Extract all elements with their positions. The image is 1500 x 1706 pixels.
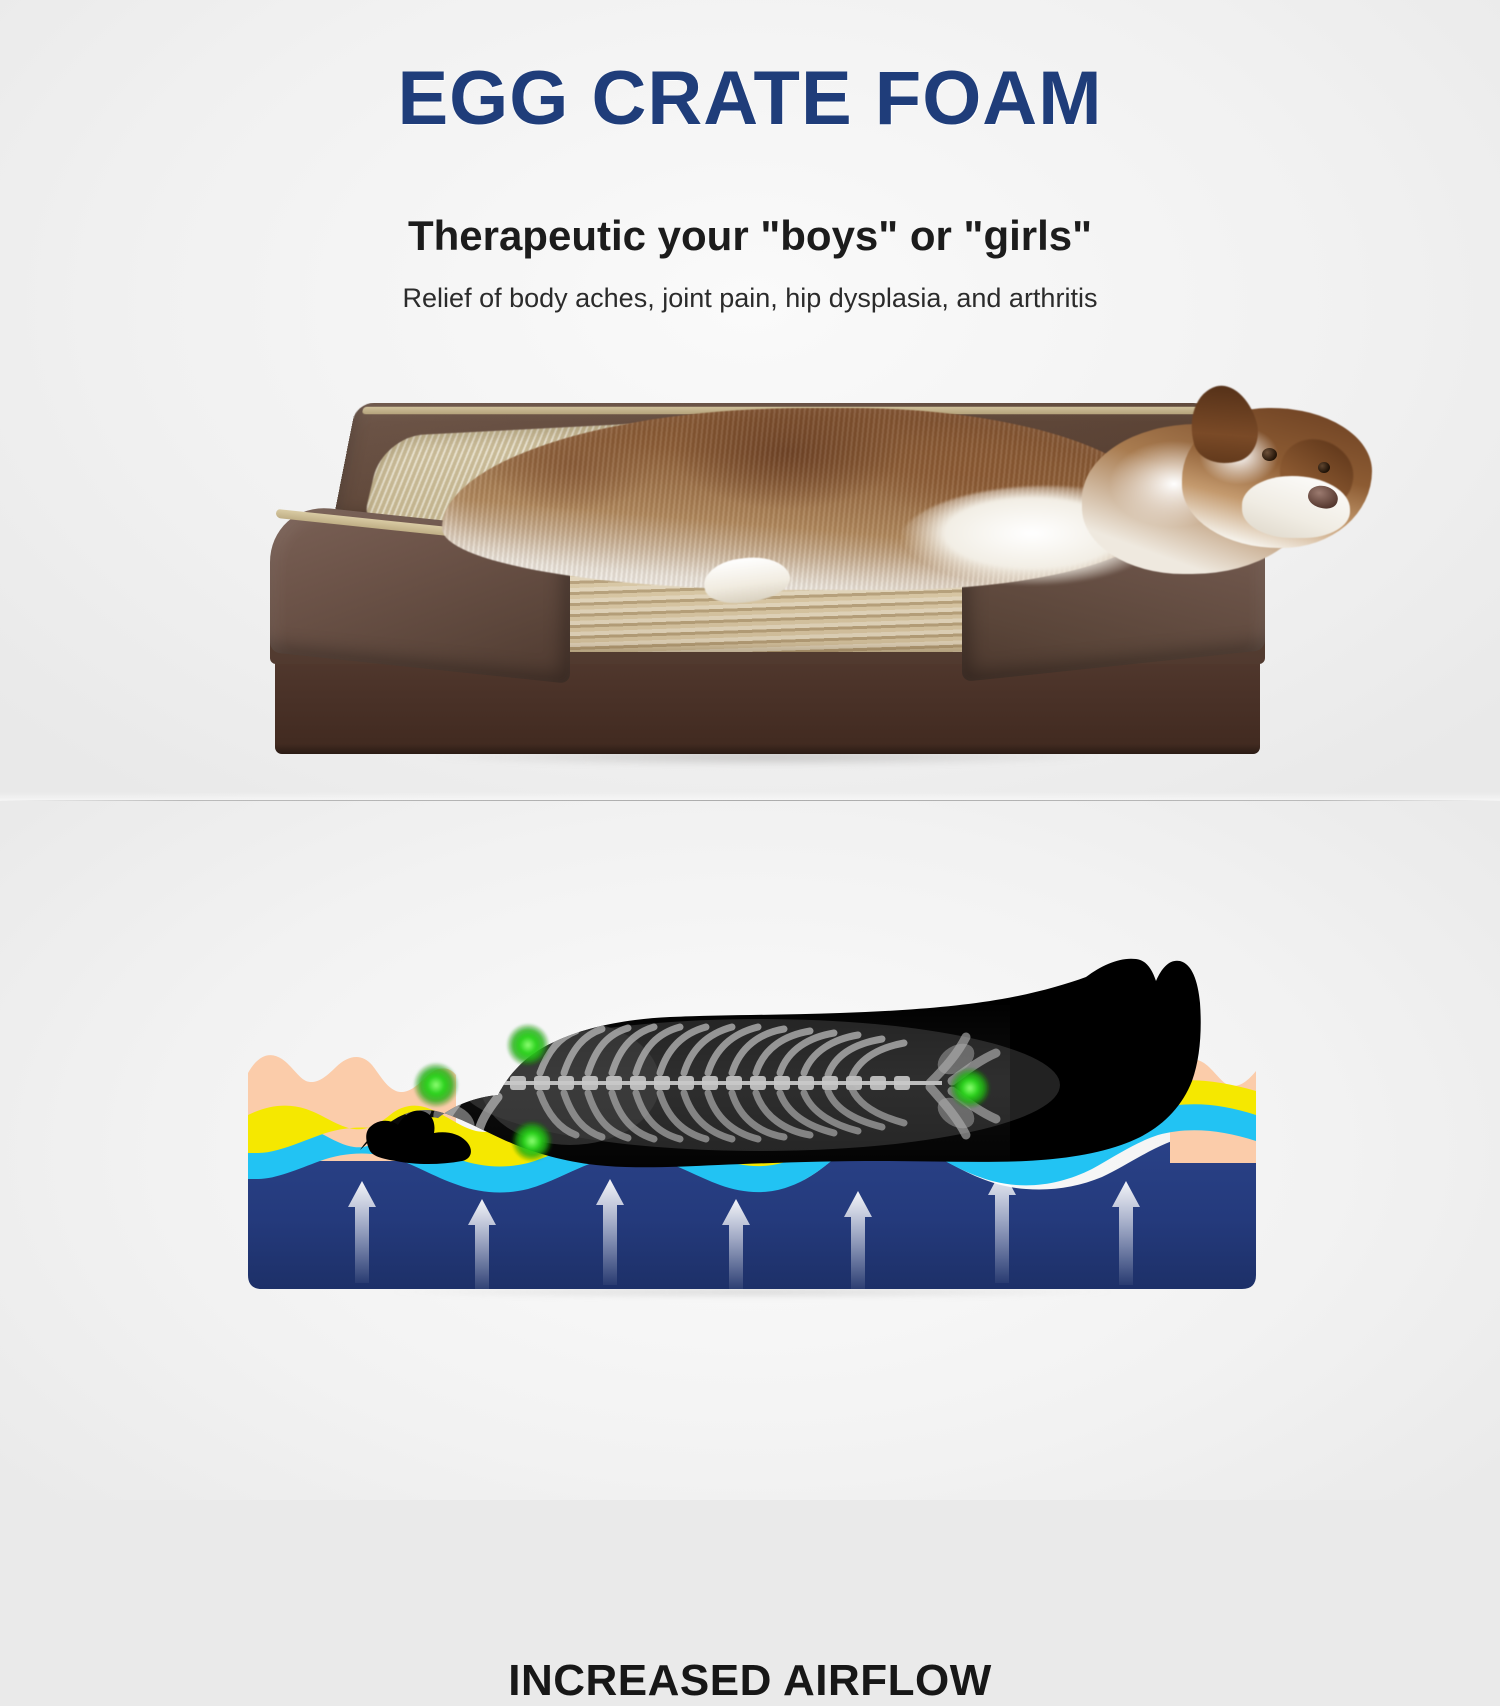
subtitle-heading: Therapeutic your "boys" or "girls" (0, 212, 1500, 260)
infographic-page: EGG CRATE FOAM Therapeutic your "boys" o… (0, 0, 1500, 1500)
page-title: EGG CRATE FOAM (0, 55, 1500, 142)
pressure-point-dot (413, 1062, 459, 1108)
product-panel: EGG CRATE FOAM Therapeutic your "boys" o… (0, 0, 1500, 800)
airflow-title: INCREASED AIRFLOW (0, 1656, 1500, 1706)
dog-eye-left (1262, 448, 1277, 461)
pressure-point-dot (511, 1120, 553, 1162)
pressure-point-dot (506, 1023, 550, 1067)
dog-bed-product-photo (262, 392, 1272, 767)
airflow-cross-section-diagram (240, 955, 1264, 1300)
benefit-tagline: Relief of body aches, joint pain, hip dy… (0, 283, 1500, 314)
pressure-point-dot (949, 1067, 991, 1109)
dog-muzzle (1242, 476, 1350, 538)
dog-photo (442, 390, 1302, 650)
dog-eye-right (1318, 462, 1330, 473)
